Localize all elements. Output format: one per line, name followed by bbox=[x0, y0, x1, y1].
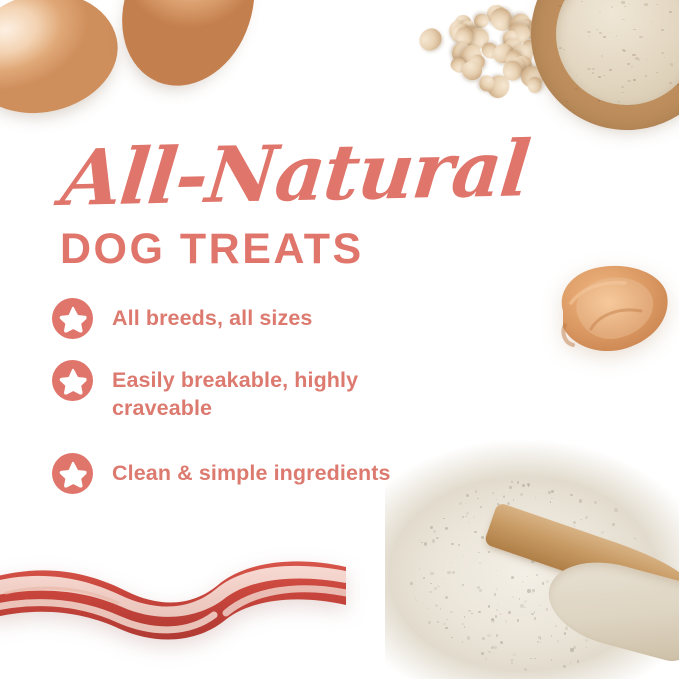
chickpea-icon bbox=[519, 36, 540, 58]
page-subtitle: DOG TREATS bbox=[60, 228, 364, 271]
flour-speck bbox=[459, 502, 462, 505]
flour-speck bbox=[500, 641, 503, 644]
flour-speck bbox=[633, 79, 635, 81]
flour-speck bbox=[566, 544, 569, 547]
flour-speck bbox=[622, 589, 625, 592]
flour-speck bbox=[507, 502, 510, 505]
flour-speck bbox=[540, 605, 541, 606]
flour-speck bbox=[589, 536, 592, 539]
flour-speck bbox=[430, 583, 431, 584]
flour-speck bbox=[501, 506, 504, 509]
flour-speck bbox=[627, 63, 630, 65]
flour-speck bbox=[651, 21, 652, 22]
flour-speck bbox=[438, 586, 440, 588]
flour-speck bbox=[633, 617, 635, 619]
flour-speck bbox=[511, 659, 513, 661]
flour-speck bbox=[560, 613, 562, 615]
flour-speck bbox=[468, 522, 470, 524]
flour-speck bbox=[573, 646, 576, 649]
flour-speck bbox=[463, 555, 464, 556]
flour-speck bbox=[576, 75, 577, 76]
flour-speck bbox=[444, 578, 445, 579]
flour-pile-image bbox=[385, 439, 679, 679]
flour-speck bbox=[566, 625, 568, 627]
flour-speck bbox=[576, 602, 579, 605]
flour-speck bbox=[471, 613, 472, 614]
flour-speck bbox=[446, 619, 448, 621]
star-badge-icon bbox=[52, 453, 93, 494]
flour-speck bbox=[646, 580, 647, 581]
flour-speck bbox=[599, 11, 601, 13]
flour-speck bbox=[495, 550, 497, 552]
flour-speck bbox=[506, 529, 508, 531]
flour-speck bbox=[564, 632, 566, 634]
flour-speck bbox=[565, 627, 568, 630]
flour-speck bbox=[428, 621, 431, 624]
flour-speck bbox=[631, 66, 632, 67]
flour-speck bbox=[527, 483, 530, 486]
flour-speck bbox=[416, 600, 418, 602]
flour-speck bbox=[547, 545, 549, 547]
flour-speck bbox=[643, 596, 644, 597]
flour-speck bbox=[617, 638, 618, 639]
flour-speck bbox=[498, 504, 501, 507]
flour-in-bowl bbox=[556, 0, 679, 105]
flour-speck bbox=[497, 538, 498, 539]
flour-speck bbox=[519, 598, 520, 599]
flour-speck bbox=[618, 573, 621, 576]
flour-speck bbox=[571, 566, 574, 569]
flour-speck bbox=[445, 527, 448, 530]
chickpea-icon bbox=[458, 19, 476, 38]
flour-speck bbox=[531, 613, 533, 615]
flour-speck bbox=[646, 557, 649, 560]
egg-icon bbox=[99, 0, 278, 106]
flour-speck bbox=[487, 634, 490, 637]
flour-speck bbox=[546, 608, 548, 610]
flour-speck bbox=[458, 544, 460, 546]
chickpea-icon bbox=[511, 14, 538, 41]
flour-speck bbox=[629, 616, 631, 618]
flour-speck bbox=[585, 516, 588, 519]
flour-speck bbox=[661, 52, 664, 54]
flour-speck bbox=[488, 651, 490, 653]
flour-speck bbox=[555, 625, 557, 627]
flour-speck bbox=[611, 555, 613, 557]
flour-speck bbox=[570, 648, 573, 651]
star-badge-icon bbox=[52, 360, 93, 401]
flour-speck bbox=[638, 576, 639, 577]
flour-speck bbox=[478, 611, 481, 614]
flour-speck bbox=[614, 611, 617, 614]
flour-speck bbox=[436, 537, 438, 539]
flour-speck bbox=[621, 1, 625, 3]
flour-speck bbox=[464, 616, 466, 618]
chickpea-icon bbox=[511, 43, 533, 67]
flour-speck bbox=[592, 68, 595, 70]
flour-speck bbox=[507, 541, 508, 542]
flour-speck bbox=[537, 641, 540, 644]
chickpea-icon bbox=[464, 25, 491, 51]
flour-speck bbox=[570, 662, 572, 664]
flour-speck bbox=[513, 653, 516, 656]
chickpea-icon bbox=[506, 56, 527, 75]
flour-speck bbox=[568, 565, 571, 568]
flour-speck bbox=[628, 556, 631, 559]
flour-speck bbox=[553, 579, 556, 582]
wooden-scoop-handle bbox=[484, 502, 679, 612]
flour-speck bbox=[421, 542, 423, 544]
flour-speck bbox=[491, 618, 494, 621]
flour-speck bbox=[524, 600, 527, 603]
flour-speck bbox=[631, 610, 634, 613]
flour-speck bbox=[540, 551, 541, 552]
list-item: Easily breakable, highly craveable bbox=[52, 360, 397, 422]
flour-speck bbox=[492, 519, 494, 521]
flour-speck bbox=[609, 69, 612, 71]
chickpea-icon bbox=[527, 77, 543, 94]
flour-speck bbox=[534, 611, 536, 613]
flour-speck bbox=[534, 617, 536, 619]
flour-speck bbox=[608, 628, 610, 630]
flour-speck bbox=[598, 549, 600, 551]
flour-speck bbox=[589, 36, 590, 37]
flour-speck bbox=[410, 582, 412, 584]
flour-speck bbox=[496, 588, 498, 590]
flour-speck bbox=[562, 584, 566, 588]
flour-speck bbox=[618, 101, 620, 102]
flour-speck bbox=[428, 608, 429, 609]
flour-bowl-image bbox=[531, 0, 679, 130]
flour-speck bbox=[581, 530, 583, 532]
chickpea-icon bbox=[559, 63, 583, 88]
flour-speck bbox=[602, 592, 603, 593]
flour-speck bbox=[496, 609, 498, 611]
chickpea-icon bbox=[541, 62, 570, 91]
flour-speck bbox=[482, 637, 485, 640]
flour-speck bbox=[621, 86, 624, 88]
flour-speck bbox=[535, 497, 537, 499]
flour-speck bbox=[520, 604, 524, 608]
flour-speck bbox=[563, 665, 566, 668]
flour-speck bbox=[538, 636, 541, 639]
flour-speck bbox=[592, 605, 595, 608]
chickpea-icon bbox=[502, 38, 524, 62]
chickpea-icon bbox=[467, 51, 488, 72]
flour-speck bbox=[604, 620, 605, 621]
flour-speck bbox=[623, 609, 626, 612]
flour-speck bbox=[606, 621, 608, 623]
flour-speck bbox=[624, 6, 626, 7]
flour-speck bbox=[598, 100, 600, 102]
flour-speck bbox=[437, 585, 439, 587]
flour-speck bbox=[597, 549, 598, 550]
flour-speck bbox=[613, 538, 614, 539]
flour-speck bbox=[623, 50, 626, 52]
flour-speck bbox=[627, 80, 630, 82]
flour-speck bbox=[564, 604, 566, 606]
chickpea-icon bbox=[538, 30, 560, 51]
list-item-label: All breeds, all sizes bbox=[112, 298, 312, 332]
flour-speck bbox=[557, 565, 560, 568]
flour-speck bbox=[511, 576, 514, 579]
flour-speck bbox=[523, 527, 526, 530]
flour-speck bbox=[614, 508, 618, 512]
flour-speck bbox=[429, 591, 432, 594]
flour-speck bbox=[464, 626, 465, 627]
flour-speck bbox=[540, 642, 542, 644]
flour-speck bbox=[554, 550, 557, 553]
flour-speck bbox=[511, 481, 513, 483]
flour-speck bbox=[491, 646, 494, 649]
flour-speck bbox=[532, 589, 535, 592]
flour-speck bbox=[633, 29, 635, 31]
chickpea-icon bbox=[566, 53, 585, 74]
chickpea-icon bbox=[539, 6, 563, 31]
flour-speck bbox=[572, 560, 575, 563]
flour-speck bbox=[669, 82, 672, 84]
flour-speck bbox=[522, 484, 525, 487]
flour-speck bbox=[452, 571, 455, 574]
flour-speck bbox=[587, 31, 590, 33]
flour-speck bbox=[661, 29, 664, 31]
wooden-scoop-bowl bbox=[539, 549, 679, 665]
flour-speck bbox=[430, 526, 433, 529]
flour-speck bbox=[440, 608, 441, 609]
flour-speck bbox=[435, 604, 438, 607]
flour-speck bbox=[496, 499, 497, 500]
flour-speck bbox=[534, 658, 536, 660]
flour-speck bbox=[491, 619, 494, 622]
flour-speck bbox=[601, 55, 603, 56]
flour-speck bbox=[494, 593, 497, 596]
flour-speck bbox=[598, 76, 601, 78]
flour-speck bbox=[509, 486, 512, 489]
flour-speck bbox=[585, 639, 588, 642]
flour-speck bbox=[462, 623, 464, 625]
flour-speck bbox=[646, 59, 648, 60]
flour-speck bbox=[551, 490, 554, 493]
flour-speck bbox=[451, 637, 453, 639]
flour-speck bbox=[527, 589, 531, 593]
product-feature-image: All-Natural DOG TREATS All breeds, all s… bbox=[0, 0, 679, 679]
flour-speck bbox=[568, 528, 571, 531]
flour-speck bbox=[594, 501, 596, 503]
flour-speck bbox=[479, 589, 482, 592]
flour-speck bbox=[423, 577, 425, 579]
flour-speck bbox=[611, 553, 614, 556]
flour-speck bbox=[634, 538, 635, 539]
flour-speck bbox=[462, 516, 464, 518]
flour-speck bbox=[601, 531, 603, 533]
flour-speck bbox=[599, 32, 602, 34]
star-badge-icon bbox=[52, 298, 93, 339]
flour-speck bbox=[566, 101, 568, 102]
flour-speck bbox=[499, 613, 501, 615]
flour-speck bbox=[597, 601, 600, 604]
flour-speck bbox=[573, 521, 576, 524]
flour-speck bbox=[612, 523, 615, 526]
flour-speck bbox=[610, 32, 611, 33]
chickpea-icon bbox=[505, 9, 535, 39]
flour-speck bbox=[554, 528, 556, 530]
chickpea-icon bbox=[572, 20, 597, 47]
flour-speck bbox=[635, 57, 639, 59]
flour-speck bbox=[445, 596, 448, 599]
chickpea-icon bbox=[485, 2, 511, 27]
flour-speck bbox=[656, 4, 658, 6]
chickpea-icon bbox=[572, 54, 595, 76]
flour-speck bbox=[602, 613, 605, 616]
flour-speck bbox=[516, 539, 518, 541]
flour-speck bbox=[532, 592, 535, 595]
flour-speck bbox=[466, 494, 469, 497]
flour-speck bbox=[534, 526, 537, 529]
flour-speck bbox=[548, 529, 551, 532]
flour-speck bbox=[473, 516, 475, 518]
flour-speck bbox=[615, 543, 618, 546]
flour-speck bbox=[544, 545, 547, 548]
flour-speck bbox=[508, 611, 511, 614]
flour-speck bbox=[558, 5, 562, 8]
flour-speck bbox=[570, 494, 573, 497]
flour-speck bbox=[450, 611, 452, 613]
flour-speck bbox=[481, 652, 484, 655]
flour-speck bbox=[620, 627, 623, 630]
chickpea-icon bbox=[546, 41, 575, 70]
peanut-butter-image bbox=[547, 255, 673, 359]
flour-speck bbox=[466, 512, 469, 515]
flour-speck bbox=[496, 634, 498, 636]
flour-speck bbox=[564, 615, 565, 616]
flour-speck bbox=[517, 481, 520, 484]
flour-speck bbox=[629, 4, 630, 5]
chickpea-icon bbox=[559, 8, 584, 35]
chickpea-icon bbox=[524, 18, 550, 44]
flour-mound bbox=[385, 439, 679, 679]
flour-speck bbox=[530, 658, 532, 660]
flour-speck bbox=[528, 485, 529, 486]
flour-speck bbox=[520, 493, 523, 496]
flour-speck bbox=[552, 584, 556, 588]
flour-speck bbox=[627, 603, 629, 605]
flour-speck bbox=[494, 646, 497, 649]
flour-speck bbox=[480, 506, 482, 508]
flour-speck bbox=[419, 539, 420, 540]
flour-speck bbox=[503, 495, 505, 497]
flour-speck bbox=[656, 72, 658, 73]
chickpeas-image bbox=[408, 0, 598, 93]
flour-speck bbox=[616, 35, 617, 36]
flour-speck bbox=[627, 612, 629, 614]
list-item-label: Easily breakable, highly craveable bbox=[112, 360, 397, 422]
flour-speck bbox=[569, 567, 572, 570]
flour-speck bbox=[567, 568, 570, 571]
flour-speck bbox=[503, 496, 505, 498]
flour-speck bbox=[468, 610, 471, 613]
flour-speck bbox=[580, 574, 583, 577]
chickpea-icon bbox=[578, 55, 605, 83]
flour-speck bbox=[573, 553, 575, 555]
flour-speck bbox=[603, 36, 607, 39]
flour-speck bbox=[434, 587, 437, 590]
flour-speck bbox=[551, 498, 553, 500]
chickpea-icon bbox=[502, 60, 523, 82]
flour-speck bbox=[576, 586, 577, 587]
flour-speck bbox=[536, 574, 538, 576]
chickpea-icon bbox=[490, 40, 518, 67]
flour-speck bbox=[592, 72, 595, 74]
flour-speck bbox=[477, 586, 480, 589]
flour-speck bbox=[577, 660, 580, 663]
flour-speck bbox=[540, 638, 542, 640]
flour-speck bbox=[557, 640, 559, 642]
chickpea-icon bbox=[478, 75, 495, 93]
flour-speck bbox=[512, 596, 514, 598]
chickpea-icon bbox=[471, 11, 491, 30]
flour-speck bbox=[575, 88, 578, 90]
flour-speck bbox=[522, 581, 524, 583]
flour-speck bbox=[548, 522, 549, 523]
flour-speck bbox=[524, 607, 525, 608]
flour-speck bbox=[622, 19, 624, 21]
eggs-image bbox=[0, 0, 270, 130]
flour-speck bbox=[614, 542, 617, 545]
flour-speck bbox=[581, 1, 583, 2]
flour-speck bbox=[481, 536, 484, 539]
flour-speck bbox=[570, 596, 571, 597]
flour-speck bbox=[501, 547, 505, 551]
chickpea-icon bbox=[484, 71, 513, 101]
flour-speck bbox=[465, 503, 466, 504]
flour-speck bbox=[511, 662, 513, 664]
flour-speck bbox=[559, 47, 562, 49]
flour-speck bbox=[580, 519, 581, 520]
flour-speck bbox=[548, 491, 551, 494]
flour-speck bbox=[430, 572, 433, 575]
chickpea-icon bbox=[454, 15, 471, 31]
flour-speck bbox=[517, 619, 519, 621]
flour-speck bbox=[664, 57, 666, 58]
flour-speck bbox=[551, 635, 552, 636]
flour-speck bbox=[669, 11, 673, 13]
flour-speck bbox=[424, 542, 427, 545]
flour-speck bbox=[646, 562, 648, 564]
flour-speck bbox=[637, 574, 638, 575]
flour-speck bbox=[488, 605, 491, 608]
flour-speck bbox=[644, 3, 648, 6]
chickpea-icon bbox=[450, 40, 472, 64]
flour-speck bbox=[450, 562, 451, 563]
flour-speck bbox=[563, 591, 565, 593]
flour-speck bbox=[527, 576, 528, 577]
flour-speck bbox=[670, 63, 674, 66]
flour-speck bbox=[629, 564, 631, 566]
flour-speck bbox=[622, 49, 625, 51]
flour-speck bbox=[479, 562, 481, 564]
flour-speck bbox=[541, 559, 543, 561]
flour-speck bbox=[599, 500, 600, 501]
flour-speck bbox=[497, 503, 499, 505]
flour-speck bbox=[451, 543, 454, 546]
flour-speck bbox=[633, 594, 635, 596]
flour-speck bbox=[563, 0, 564, 1]
chickpea-icon bbox=[455, 27, 472, 46]
flour-speck bbox=[548, 558, 552, 562]
flour-speck bbox=[558, 557, 560, 559]
flour-speck bbox=[492, 492, 494, 494]
chickpea-icon bbox=[519, 65, 545, 89]
